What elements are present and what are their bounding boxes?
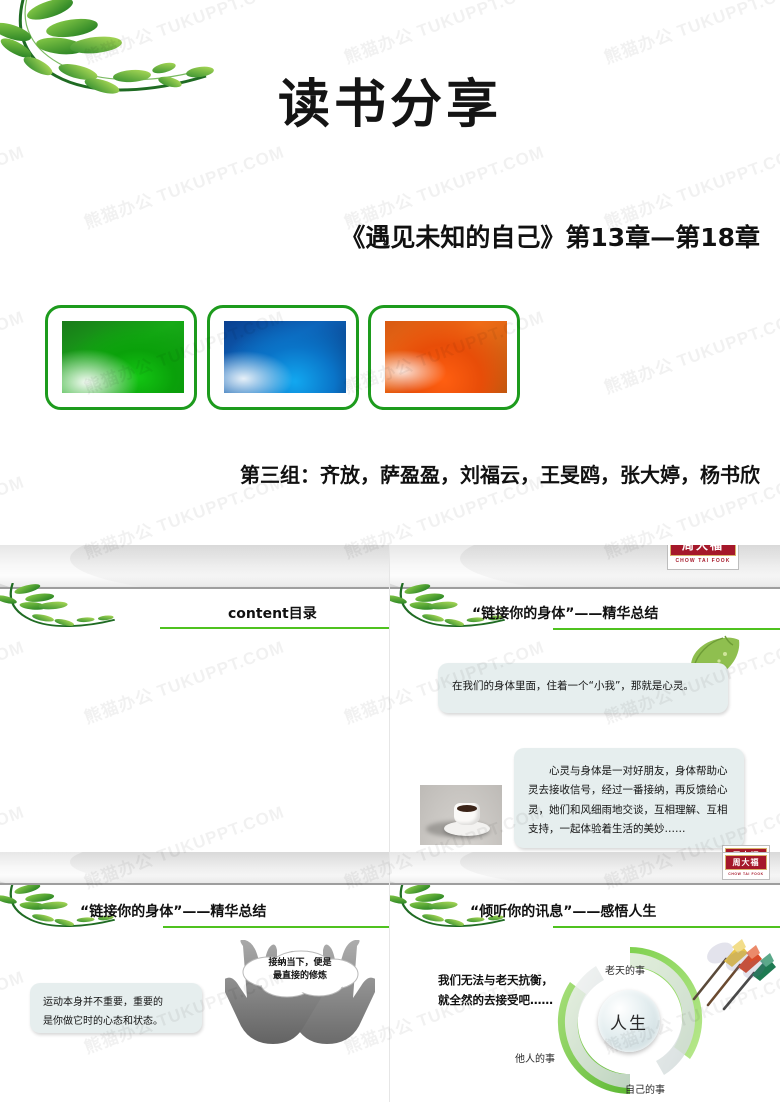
title-underline (160, 627, 390, 629)
brand-logo-cn: 周大福 (670, 545, 736, 556)
life-label-self: 自己的事 (625, 1081, 665, 1096)
life-label-others: 他人的事 (515, 1050, 555, 1065)
slide-footer-band-left (0, 852, 389, 885)
cover-swatch-orange[interactable] (368, 305, 520, 410)
brand-logo-cn: 周大福 (725, 855, 767, 870)
title-underline (553, 628, 780, 630)
life-center-label: 人生 (610, 1009, 648, 1034)
brand-logo-en: CHOW TAI FOOK (670, 556, 736, 567)
slide-grid-divider-v2 (389, 885, 390, 1102)
slide-connect-body-2[interactable]: “链接你的身体”——精华总结 (0, 885, 390, 1102)
slide-listen-message[interactable]: “倾听你的讯息”——感悟人生 我们无法与老天抗衡， 就全然的去接受吧…… (390, 885, 780, 1102)
slide-title: “链接你的身体”——精华总结 (80, 901, 266, 921)
quote-bubble-1-line-1: 运动本身并不重要，重要的 (43, 994, 189, 1013)
title-underline (553, 926, 780, 928)
life-center-node: 人生 (598, 990, 660, 1052)
leaf-vine-decoration-icon (0, 583, 136, 645)
open-hands-photo: 接纳当下，便是 最直接的修炼 (225, 940, 375, 1052)
cover-swatch-row (0, 305, 780, 417)
slide-cover[interactable]: 读书分享 《遇见未知的自己》第13章—第18章 第三组：齐放，萨盈盈，刘福云，王… (0, 0, 780, 545)
quote-bubble-1: 运动本身并不重要，重要的 是你做它时的心态和状态。 (30, 983, 202, 1033)
slide-title: “倾听你的讯息”——感悟人生 (470, 901, 656, 921)
cover-group-members: 第三组：齐放，萨盈盈，刘福云，王旻鸥，张大婷，杨书欣 (0, 459, 760, 488)
cloud-text-line-1: 接纳当下，便是 (239, 957, 361, 969)
brand-logo-en: CHOW TAI FOOK (725, 870, 767, 877)
life-label-heaven: 老天的事 (605, 962, 645, 977)
darts-icon (680, 933, 776, 1011)
slide-contents[interactable]: content目录 链接你的身体——精华总结 (0, 545, 390, 885)
presentation-preview-page: 读书分享 《遇见未知的自己》第13章—第18章 第三组：齐放，萨盈盈，刘福云，王… (0, 0, 780, 1102)
quote-bubble-1: 在我们的身体里面，住着一个“小我”，那就是心灵。 (438, 663, 728, 713)
title-underline (163, 926, 390, 928)
cover-title: 读书分享 (0, 62, 780, 137)
quote-bubble-2: 心灵与身体是一对好朋友，身体帮助心灵去接收信号，经过一番接纳，再反馈给心灵，她们… (514, 748, 744, 848)
slide-contents-title: content目录 (228, 603, 317, 623)
cover-swatch-blue[interactable] (207, 305, 359, 410)
cloud-text-line-2: 最直接的修炼 (239, 970, 361, 982)
quote-bubble-2-text: 心灵与身体是一对好朋友，身体帮助心灵去接收信号，经过一番接纳，再反馈给心灵，她们… (528, 762, 730, 840)
slide-grid-divider-v1 (389, 545, 390, 885)
quote-bubble-1-text: 在我们的身体里面，住着一个“小我”，那就是心灵。 (452, 679, 714, 695)
slide-connect-body[interactable]: 周大福 CHOW TAI FOOK “链接你的身体”——精华总结 (390, 545, 780, 885)
brand-logo-badge: 周大福 CHOW TAI FOOK (667, 545, 739, 570)
quote-bubble-1-line-2: 是你做它时的心态和状态。 (43, 1013, 189, 1032)
brand-logo-badge: 周大福 CHOW TAI FOOK (722, 852, 770, 880)
slide-header-band (0, 545, 390, 589)
cover-subtitle: 《遇见未知的自己》第13章—第18章 (0, 218, 760, 254)
slide-title: “链接你的身体”——精华总结 (472, 603, 658, 623)
coffee-cup-photo (420, 785, 502, 845)
cover-swatch-green[interactable] (45, 305, 197, 410)
